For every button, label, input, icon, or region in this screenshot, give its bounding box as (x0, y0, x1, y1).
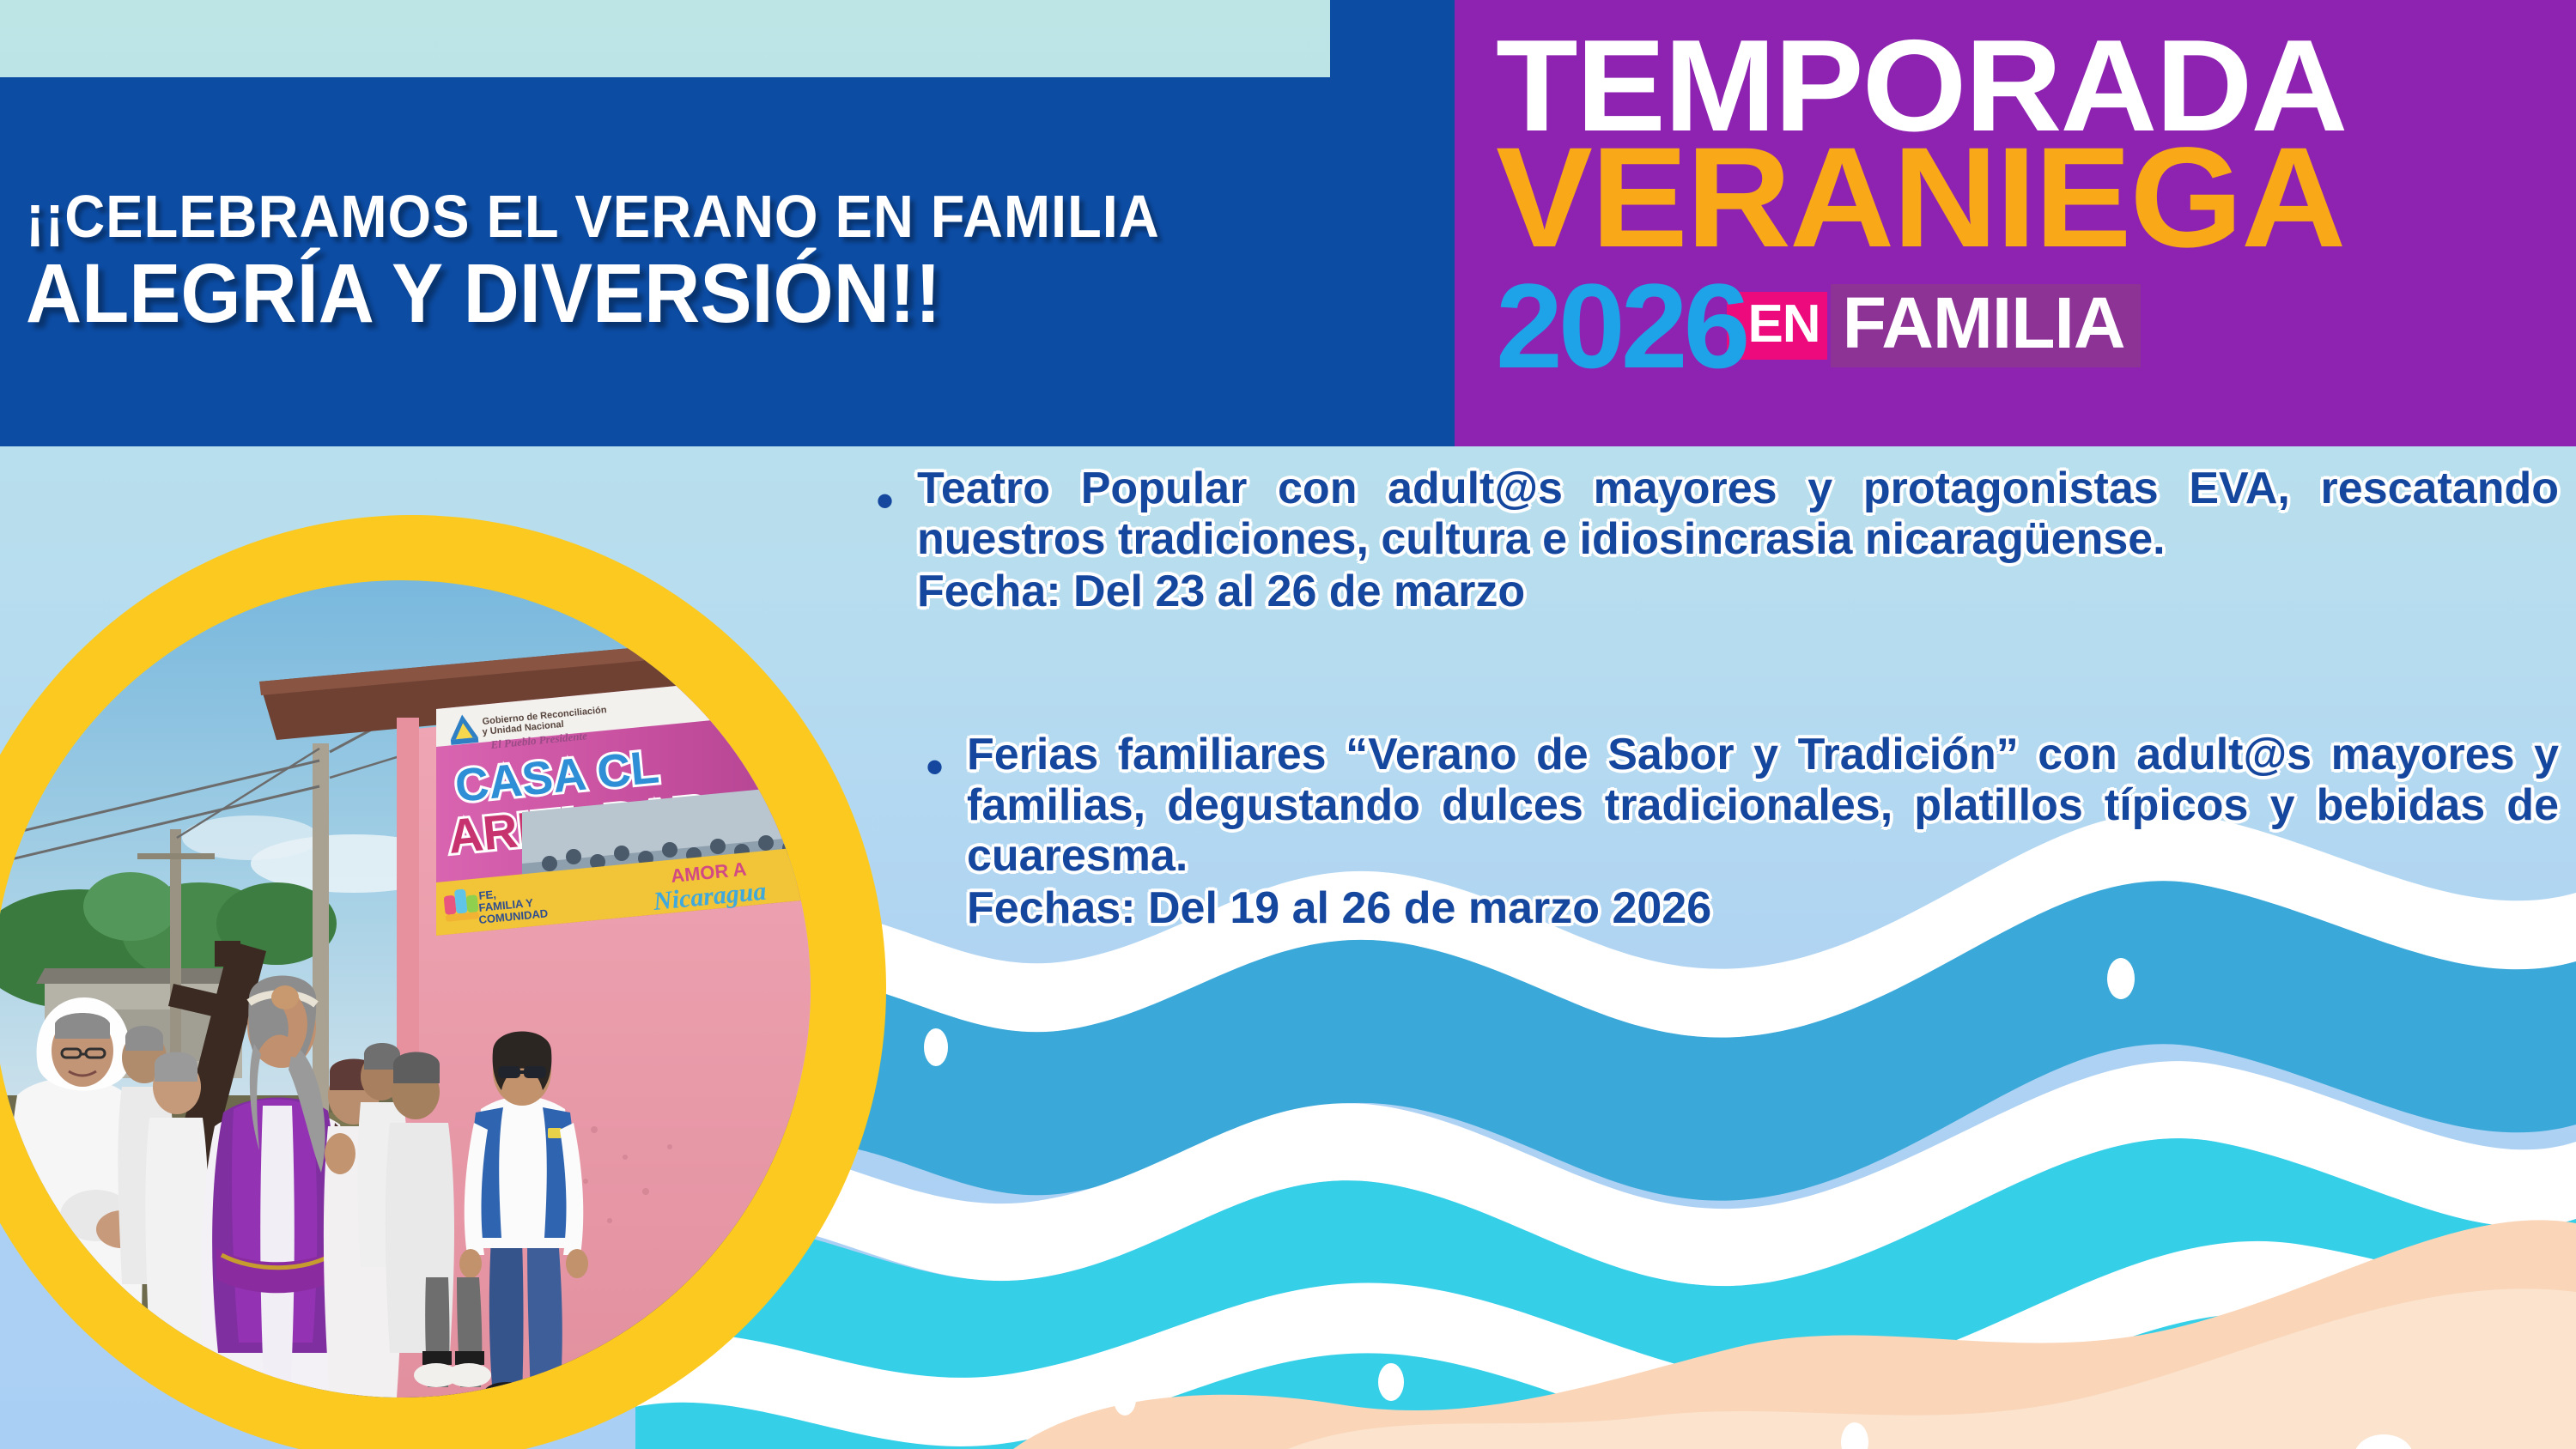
bullet-date: Fechas: Del 19 al 26 de marzo 2026 (967, 883, 2559, 934)
bullet-text-wrap: Teatro Popular con adult@s mayores y pro… (917, 464, 2559, 616)
activity-list: • Teatro Popular con adult@s mayores y p… (876, 464, 2559, 933)
logo-year-text: 2026 (1496, 273, 1746, 379)
bullet-marker-icon: • (926, 730, 967, 933)
list-item: • Teatro Popular con adult@s mayores y p… (876, 464, 2559, 616)
header-line-1: ¡¡CELEBRAMOS EL VERANO EN FAMILIA (26, 186, 1355, 246)
header-title-block: ¡¡CELEBRAMOS EL VERANO EN FAMILIA ALEGRÍ… (0, 77, 1455, 446)
bullet-description: Ferias familiares “Verano de Sabor y Tra… (967, 730, 2559, 881)
logo-veraniega-text: VERANIEGA (1496, 127, 2344, 270)
poster-canvas: Gobierno de Reconciliación y Unidad Naci… (0, 0, 2576, 1449)
header-notch (1330, 0, 1455, 77)
bullet-text-wrap: Ferias familiares “Verano de Sabor y Tra… (967, 730, 2559, 933)
temporada-veraniega-logo: TEMPORADA VERANIEGA 2026 EN FAMILIA (1455, 0, 2576, 446)
list-item: • Ferias familiares “Verano de Sabor y T… (926, 730, 2559, 933)
logo-familia-badge: FAMILIA (1831, 284, 2141, 367)
header-line-2: ALEGRÍA Y DIVERSIÓN!! (26, 250, 1355, 337)
list-spacer (876, 616, 2559, 730)
photo-circle: Gobierno de Reconciliación y Unidad Naci… (0, 580, 811, 1397)
logo-familia-text: FAMILIA (1843, 293, 2125, 354)
bullet-description: Teatro Popular con adult@s mayores y pro… (917, 464, 2559, 565)
bullet-date: Fecha: Del 23 al 26 de marzo (917, 567, 2559, 617)
logo-en-text: EN (1747, 302, 1820, 348)
bullet-marker-icon: • (876, 464, 917, 616)
logo-bottom-row: 2026 EN FAMILIA (1496, 273, 2141, 379)
